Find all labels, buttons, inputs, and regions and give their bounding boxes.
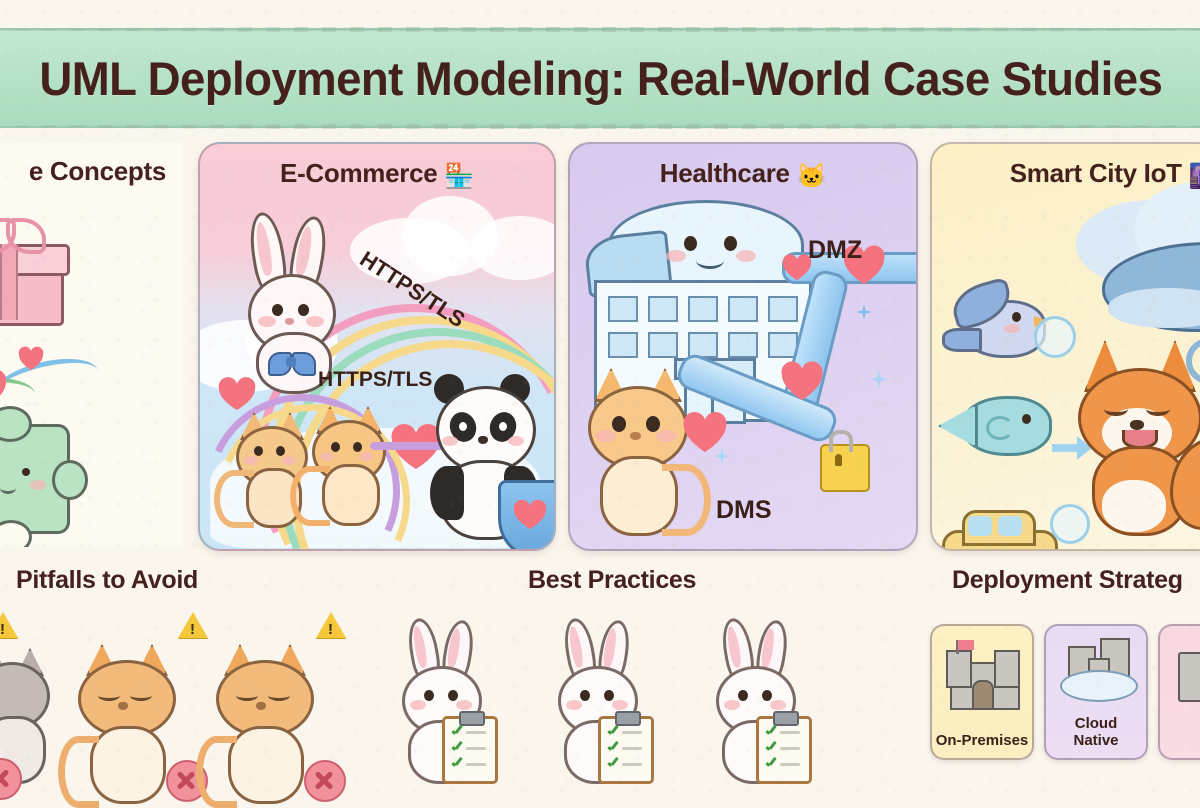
panel-core-concepts[interactable]: e Concepts xyxy=(0,142,182,547)
clipboard-icon xyxy=(442,716,498,784)
warning-triangle-icon xyxy=(178,612,208,638)
warning-triangle-icon xyxy=(0,612,18,638)
signal-bubble-icon xyxy=(1034,316,1076,358)
sparkle-icon xyxy=(714,448,730,464)
panel-healthcare[interactable]: Healthcare 🐱 xyxy=(568,142,918,551)
strategy-card-label: On-Premises xyxy=(936,733,1029,750)
heading-deployment-strategies: Deployment Strateg xyxy=(952,566,1183,595)
red-x-icon xyxy=(304,760,346,802)
signal-bubble-icon xyxy=(1050,504,1090,544)
city-emoji-icon: 🌆 xyxy=(1189,163,1200,190)
castle-icon xyxy=(946,640,1022,706)
bowtie-icon xyxy=(268,352,314,372)
sparkle-icon xyxy=(856,304,872,320)
strategy-card-label: Cloud Native xyxy=(1073,716,1118,750)
sparkle-icon xyxy=(870,370,888,388)
label-dms: DMS xyxy=(716,496,772,525)
warning-triangle-icon xyxy=(316,612,346,638)
heading-pitfalls-to-avoid: Pitfalls to Avoid xyxy=(16,566,198,595)
panel-e-commerce[interactable]: E-Commerce 🏪 xyxy=(198,142,556,551)
heading-best-practices: Best Practices xyxy=(528,566,696,595)
clipboard-icon xyxy=(598,716,654,784)
padlock-icon xyxy=(820,444,870,492)
panel-healthcare-title: Healthcare 🐱 xyxy=(570,158,916,191)
panel-smart-city-iot[interactable]: Smart City IoT 🌆 xyxy=(930,142,1200,551)
store-emoji-icon: 🏪 xyxy=(444,163,474,190)
strategy-card-cloud-native[interactable]: Cloud Native xyxy=(1044,624,1148,760)
hybrid-icon xyxy=(1174,642,1200,704)
panel-core-concepts-title: e Concepts xyxy=(0,156,182,187)
label-https-tls-lower: HTTPS/TLS xyxy=(318,368,432,392)
shield-icon xyxy=(498,480,556,551)
panel-smart-city-iot-title: Smart City IoT 🌆 xyxy=(932,158,1200,191)
cat-emoji-icon: 🐱 xyxy=(797,163,827,190)
panel-e-commerce-title: E-Commerce 🏪 xyxy=(200,158,554,191)
strategy-card-on-premises[interactable]: On-Premises xyxy=(930,624,1034,760)
case-study-panel-row: e Concepts xyxy=(0,142,1200,550)
page-title: UML Deployment Modeling: Real-World Case… xyxy=(40,55,1163,102)
strategy-card-hybrid[interactable]: H xyxy=(1158,624,1200,760)
title-banner: UML Deployment Modeling: Real-World Case… xyxy=(0,28,1200,128)
cloud-castle-icon xyxy=(1060,638,1136,698)
label-dmz: DMZ xyxy=(808,236,862,265)
clipboard-icon xyxy=(756,716,812,784)
